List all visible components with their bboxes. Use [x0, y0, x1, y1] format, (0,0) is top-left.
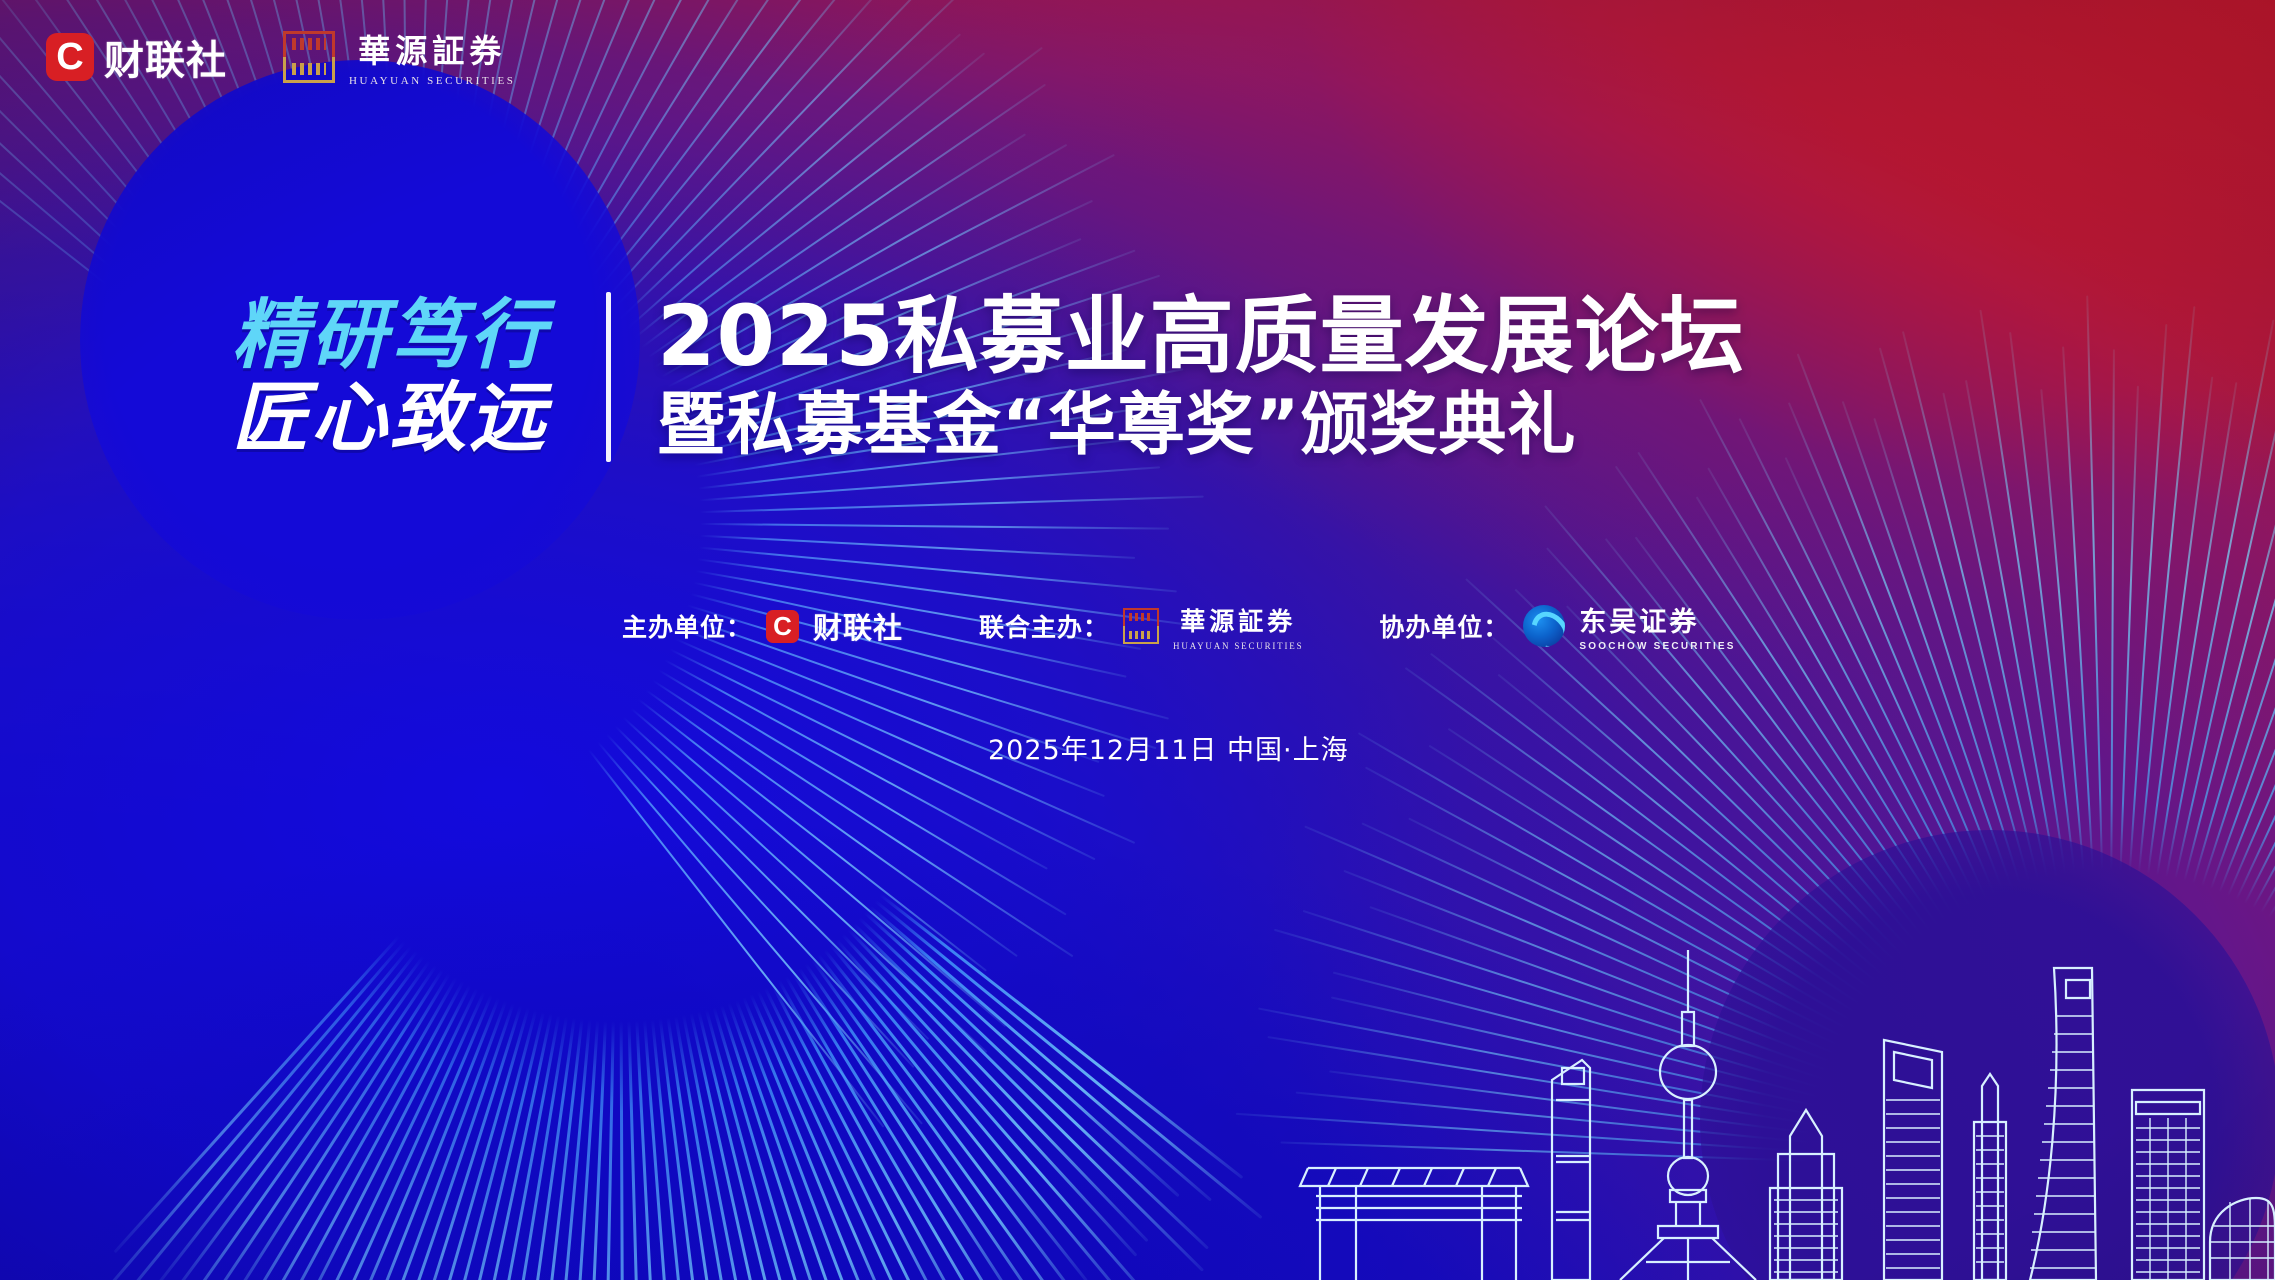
- sponsor-co-organizer-name: 華源証券: [1180, 602, 1296, 638]
- event-dateline: 2025年12月11日 中国·上海: [988, 728, 1349, 767]
- slogan-line-2: 匠心致远: [232, 378, 548, 459]
- event-title-line-2: 暨私募基金“华尊奖”颁奖典礼: [657, 390, 1745, 461]
- slogan: 精研笃行 匠心致远: [232, 295, 548, 458]
- huayuan-logo: 華源証券 HUAYUAN SECURITIES: [283, 26, 515, 87]
- event-poster: C 财联社 華源証券 HUAYUAN SECURITIES 精研笃行 匠心致远 …: [0, 0, 2275, 1280]
- sponsor-row: 主办单位： C 财联社 联合主办： 華源証券 HUAYUAN SECURITIE…: [622, 600, 1736, 652]
- cls-logo-icon: C: [46, 33, 94, 81]
- sponsor-supporter-label: 协办单位：: [1379, 608, 1509, 644]
- headline-block: 精研笃行 匠心致远 2025私募业高质量发展论坛 暨私募基金“华尊奖”颁奖典礼: [232, 292, 1745, 462]
- event-title: 2025私募业高质量发展论坛 暨私募基金“华尊奖”颁奖典礼: [657, 292, 1745, 462]
- sponsor-co-organizer: 联合主办： 華源証券 HUAYUAN SECURITIES: [979, 602, 1303, 651]
- slogan-line-1: 精研笃行: [232, 295, 548, 376]
- huayuan-logo-label-en: HUAYUAN SECURITIES: [349, 75, 515, 87]
- cls-logo: C 财联社: [46, 28, 227, 86]
- shanghai-skyline: [1290, 950, 2275, 1280]
- sponsor-supporter-text: 东吴证券 SOOCHOW SECURITIES: [1579, 600, 1735, 652]
- header-logo-bar: C 财联社 華源証券 HUAYUAN SECURITIES: [46, 26, 515, 87]
- sponsor-organizer-label: 主办单位：: [622, 608, 752, 644]
- cls-logo-label: 财联社: [104, 28, 227, 86]
- headline-divider: [606, 292, 611, 462]
- sponsor-co-organizer-text: 華源証券 HUAYUAN SECURITIES: [1173, 602, 1303, 651]
- soochow-logo-icon: [1523, 605, 1565, 647]
- huayuan-logo-text: 華源証券 HUAYUAN SECURITIES: [349, 26, 515, 87]
- huayuan-logo-icon: [283, 31, 335, 83]
- sponsor-co-organizer-label: 联合主办：: [979, 608, 1109, 644]
- sponsor-co-organizer-name-en: HUAYUAN SECURITIES: [1173, 641, 1303, 651]
- sponsor-supporter-name-en: SOOCHOW SECURITIES: [1579, 641, 1735, 652]
- cls-logo-icon: C: [766, 610, 799, 643]
- event-title-line-1: 2025私募业高质量发展论坛: [657, 292, 1745, 380]
- huayuan-logo-label-cn: 華源証券: [358, 26, 506, 72]
- sponsor-supporter: 协办单位： 东吴证券 SOOCHOW SECURITIES: [1379, 600, 1735, 652]
- sponsor-organizer: 主办单位： C 财联社: [622, 605, 903, 647]
- sponsor-supporter-name: 东吴证券: [1579, 600, 1735, 639]
- sponsor-organizer-name: 财联社: [813, 605, 903, 647]
- huayuan-logo-icon: [1123, 608, 1159, 644]
